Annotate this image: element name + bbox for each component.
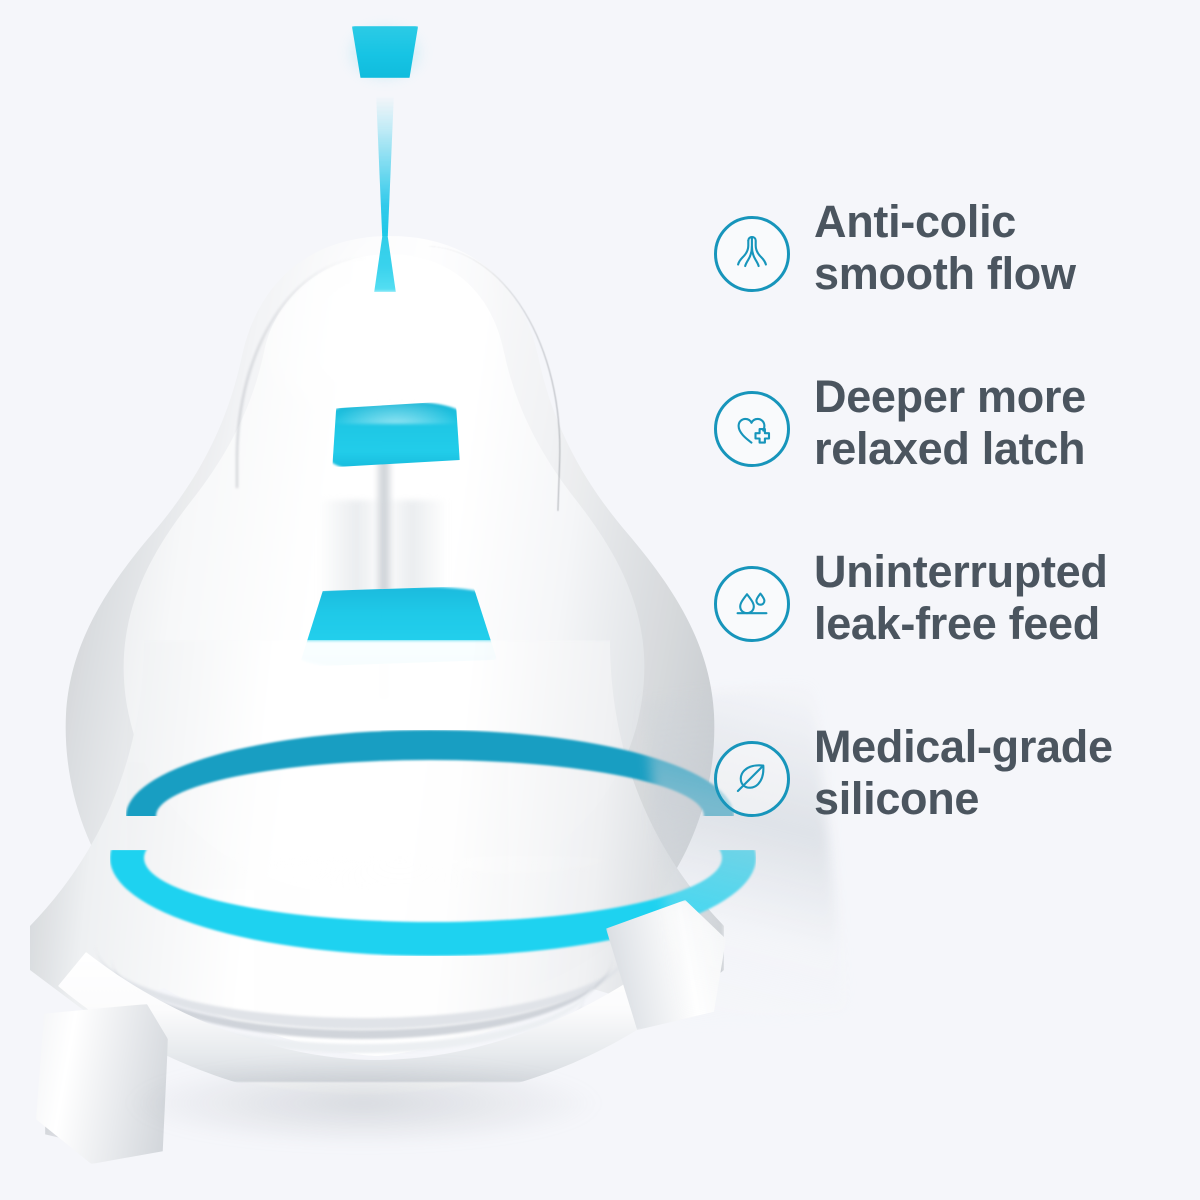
feature-label-anti-colic: Anti-colic smooth flow: [814, 196, 1076, 300]
feature-item-latch: Deeper more relaxed latch: [714, 371, 1184, 546]
feature-item-anti-colic: Anti-colic smooth flow: [714, 196, 1184, 371]
feature-item-leak-free: Uninterrupted leak-free feed: [714, 546, 1184, 721]
nipple-flow-icon: [714, 216, 790, 292]
feature-list: Anti-colic smooth flow Deeper more relax…: [714, 196, 1184, 896]
water-drops-icon: [714, 566, 790, 642]
product-floor-shadow: [60, 1046, 720, 1176]
feature-label-leak-free: Uninterrupted leak-free feed: [814, 546, 1108, 650]
feature-label-silicone: Medical-grade silicone: [814, 721, 1113, 825]
feature-item-silicone: Medical-grade silicone: [714, 721, 1184, 896]
feature-label-latch: Deeper more relaxed latch: [814, 371, 1086, 475]
product-image: [0, 0, 760, 1200]
heart-cross-icon: [714, 391, 790, 467]
detached-nipple-tip: [349, 26, 421, 78]
leaf-icon: [714, 741, 790, 817]
infographic-canvas: Anti-colic smooth flow Deeper more relax…: [0, 0, 1200, 1200]
cyan-band-upper-highlight: [331, 398, 461, 424]
